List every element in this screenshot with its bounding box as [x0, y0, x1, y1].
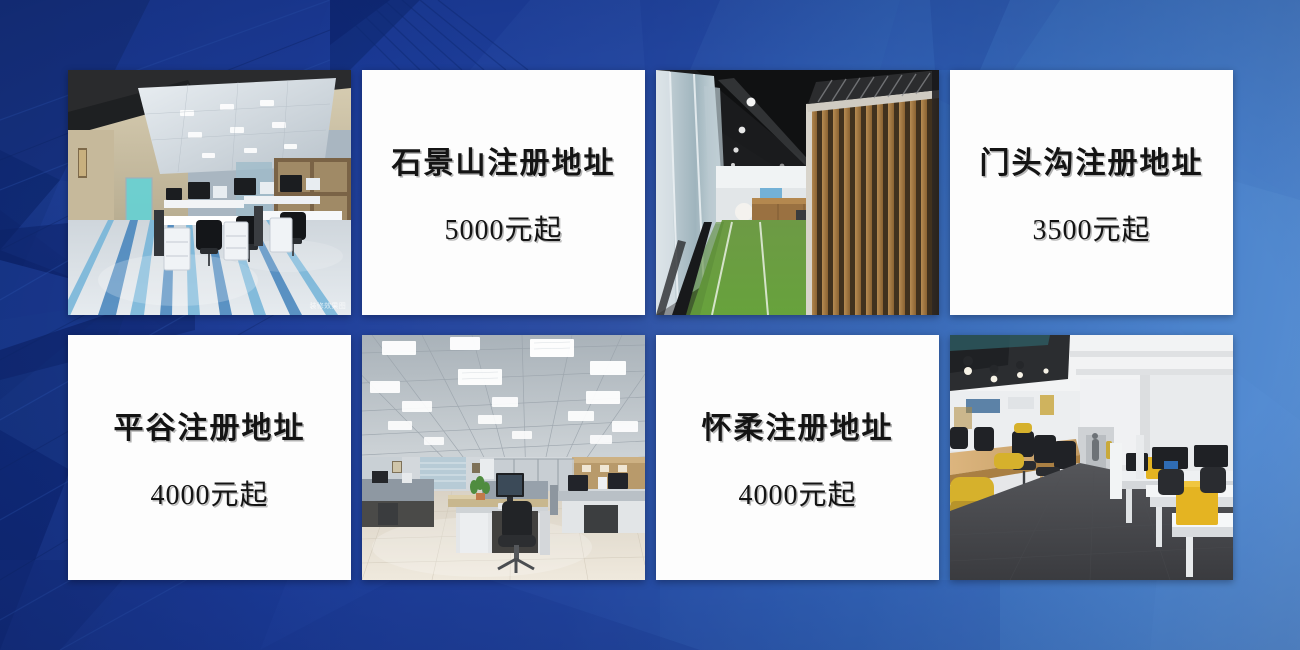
photo-watermark: 装修效果图 — [310, 301, 347, 311]
card-price: 4000元起 — [738, 473, 856, 513]
card-price: 3500元起 — [1032, 208, 1150, 248]
office-photo-striped-carpet — [68, 70, 351, 315]
card-shijingshan-registration[interactable]: 石景山注册地址 5000元起 — [362, 70, 645, 315]
office-photo-open-plan-ceiling — [362, 335, 645, 580]
card-title: 石景山注册地址 — [392, 138, 616, 182]
card-office-photo-striped-carpet[interactable]: 装修效果图 — [68, 70, 351, 315]
card-grid: 装修效果图 石景山注册地址 5000元起 — [68, 70, 1232, 580]
card-title: 怀柔注册地址 — [702, 403, 894, 447]
card-office-photo-open-plan-ceiling[interactable] — [362, 335, 645, 580]
office-photo-green-corridor — [656, 70, 939, 315]
card-price: 4000元起 — [150, 473, 268, 513]
card-huairou-registration[interactable]: 怀柔注册地址 4000元起 — [656, 335, 939, 580]
card-title: 平谷注册地址 — [114, 403, 306, 447]
office-photo-yellow-accent — [950, 335, 1233, 580]
card-office-photo-yellow-accent[interactable] — [950, 335, 1233, 580]
card-pinggu-registration[interactable]: 平谷注册地址 4000元起 — [68, 335, 351, 580]
card-price: 5000元起 — [444, 208, 562, 248]
card-office-photo-green-corridor[interactable] — [656, 70, 939, 315]
slide-canvas: 装修效果图 石景山注册地址 5000元起 — [0, 0, 1300, 650]
card-title: 门头沟注册地址 — [980, 138, 1204, 182]
card-mentougou-registration[interactable]: 门头沟注册地址 3500元起 — [950, 70, 1233, 315]
